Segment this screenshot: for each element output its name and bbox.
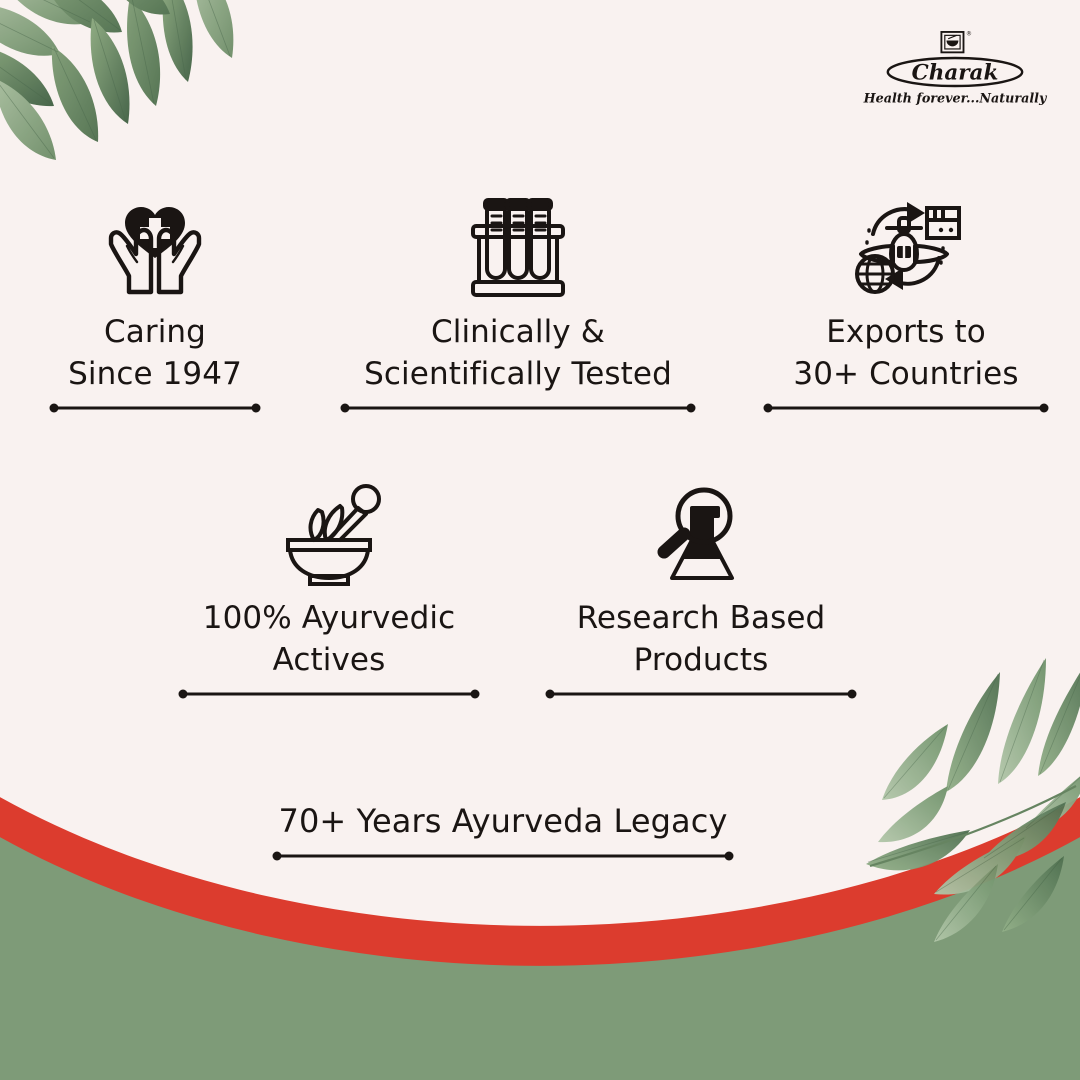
brand-logo: ® Charak Health forever...Naturally [860,28,1050,108]
magnifier-flask-icon [648,482,754,586]
feature-label: 100% Ayurvedic Actives [203,598,455,681]
mortar-pestle-leaves-icon [270,482,388,586]
feature-label: Clinically & Scientifically Tested [364,312,672,395]
feature-label: Caring Since 1947 [68,312,242,395]
feature-underline [545,687,857,701]
feature-underline [340,401,696,415]
feature-underline [763,401,1049,415]
feature-label: Exports to 30+ Countries [793,312,1018,395]
feature-underline [49,401,261,415]
logo-brand-name: Charak [912,60,999,85]
feature-label: 70+ Years Ayurveda Legacy [278,800,727,843]
feature-caring: Caring Since 1947 [20,196,290,415]
logo-tagline: Health forever...Naturally [860,88,1050,108]
registered-mark: ® [966,30,972,37]
feature-exports: Exports to 30+ Countries [752,196,1060,415]
feature-underline [178,687,480,701]
feature-label: Research Based Products [577,598,826,681]
logo-mortar-mark-icon: ® [938,28,972,58]
air-shipping-globe-icon [847,196,965,300]
test-tube-rack-icon [465,196,571,300]
feature-research-based: Research Based Products [545,482,857,701]
feature-grid: Caring Since 1947 [0,0,1080,1080]
feature-ayurvedic-actives: 100% Ayurvedic Actives [178,482,480,701]
feature-legacy: 70+ Years Ayurveda Legacy [272,800,734,863]
feature-underline [272,849,734,863]
hands-holding-heart-icon [99,196,211,300]
logo-wordmark: Charak [885,56,1025,88]
feature-clinically-tested: Clinically & Scientifically Tested [338,196,698,415]
logo-tagline-text: Health forever...Naturally [863,91,1048,106]
